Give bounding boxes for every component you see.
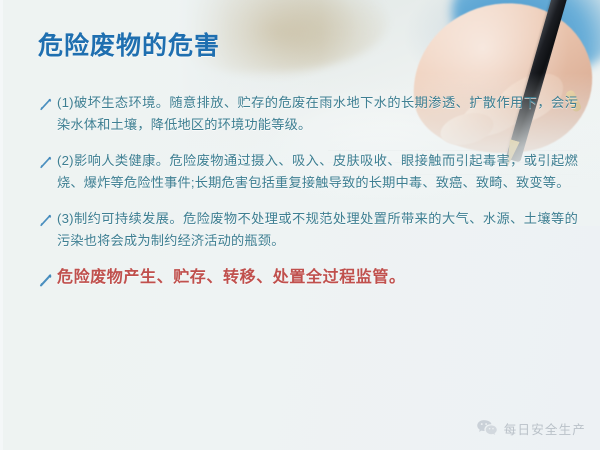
watermark: 每日安全生产 [476,419,586,438]
list-item-text: (3)制约可持续发展。危险废物不处理或不规范处理处置所带来的大气、水源、土壤等的… [57,208,578,252]
list-item-text: (2)影响人类健康。危险废物通过摄入、吸入、皮肤吸收、眼接触而引起毒害，或引起燃… [57,150,578,194]
emphasis-item-text: 危险废物产生、贮存、转移、处置全过程监管。 [57,266,578,290]
pencil-icon [38,95,55,113]
left-edge-strip [0,0,3,450]
watermark-text: 每日安全生产 [504,419,586,438]
pencil-icon [38,211,55,229]
page-title: 危险废物的危害 [38,33,220,61]
list-item: (3)制约可持续发展。危险废物不处理或不规范处理处置所带来的大气、水源、土壤等的… [38,208,578,252]
list-item: (1)破坏生态环境。随意排放、贮存的危废在雨水地下水的长期渗透、扩散作用下，会污… [38,92,578,136]
wechat-icon [476,419,498,438]
pencil-icon [38,271,55,289]
list-item: (2)影响人类健康。危险废物通过摄入、吸入、皮肤吸收、眼接触而引起毒害，或引起燃… [38,150,578,194]
list-item-text: (1)破坏生态环境。随意排放、贮存的危废在雨水地下水的长期渗透、扩散作用下，会污… [57,92,578,136]
emphasis-item: 危险废物产生、贮存、转移、处置全过程监管。 [38,266,578,290]
pencil-icon [38,153,55,171]
bullet-list: (1)破坏生态环境。随意排放、贮存的危废在雨水地下水的长期渗透、扩散作用下，会污… [38,92,578,290]
slide: 危险废物的危害 (1)破坏生态环境。随意排放、贮存的危废在雨水地下水的长期渗透、… [0,0,600,450]
